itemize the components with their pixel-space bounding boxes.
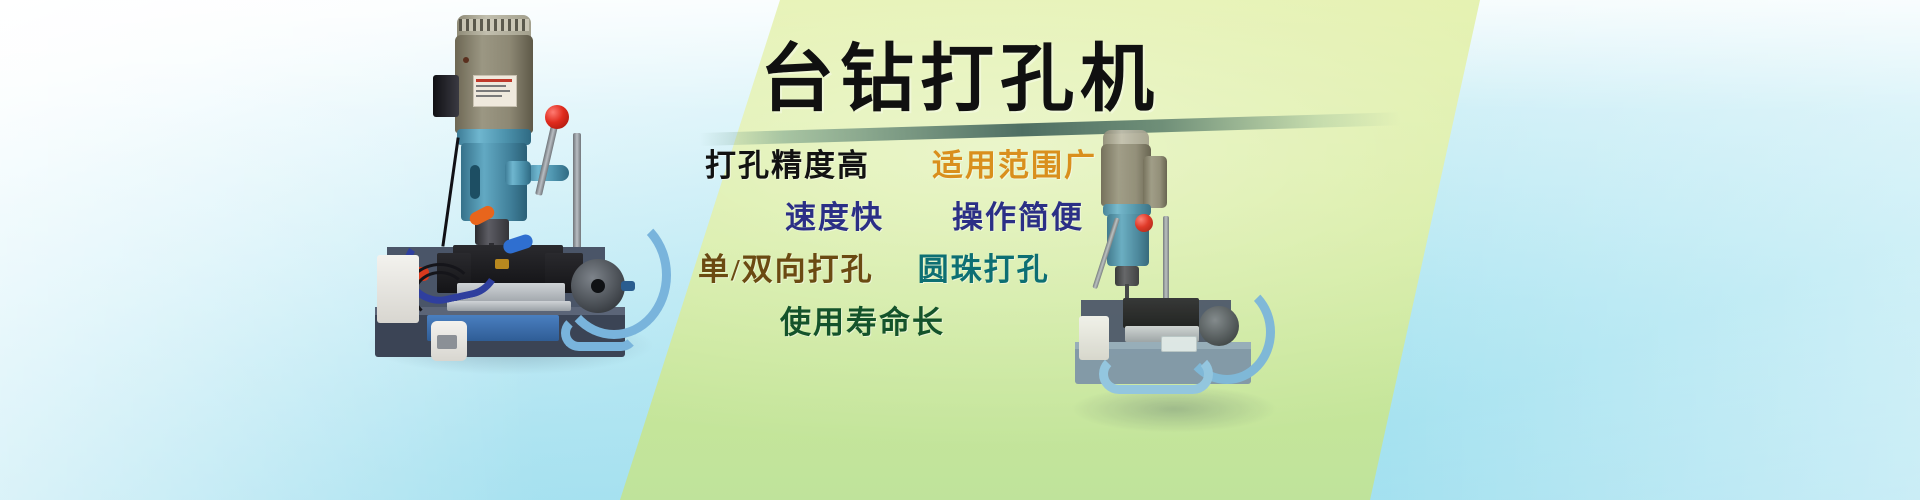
left-product-image	[375, 15, 645, 360]
feature-bead-drilling: 圆珠打孔	[918, 250, 1050, 290]
product-banner: 台钻打孔机 打孔精度高 适用范围广 速度快 操作简便 单/双向打孔 圆珠打孔 使…	[0, 0, 1920, 500]
feature-single-double-drilling: 单/双向打孔	[698, 250, 874, 290]
feature-easy-operation: 操作简便	[952, 198, 1084, 238]
feature-row-1: 打孔精度高 适用范围广	[705, 146, 1097, 186]
feature-fast-speed: 速度快	[785, 198, 884, 238]
feature-row-3: 单/双向打孔 圆珠打孔	[698, 250, 1050, 290]
feature-row-4: 使用寿命长	[780, 303, 945, 343]
feature-row-2: 速度快 操作简便	[785, 198, 1084, 238]
page-title: 台钻打孔机	[760, 38, 1160, 122]
feature-long-lifespan: 使用寿命长	[780, 303, 945, 343]
feature-drilling-precision: 打孔精度高	[705, 146, 870, 186]
right-product-image	[1075, 130, 1265, 430]
feature-wide-application: 适用范围广	[932, 146, 1097, 186]
